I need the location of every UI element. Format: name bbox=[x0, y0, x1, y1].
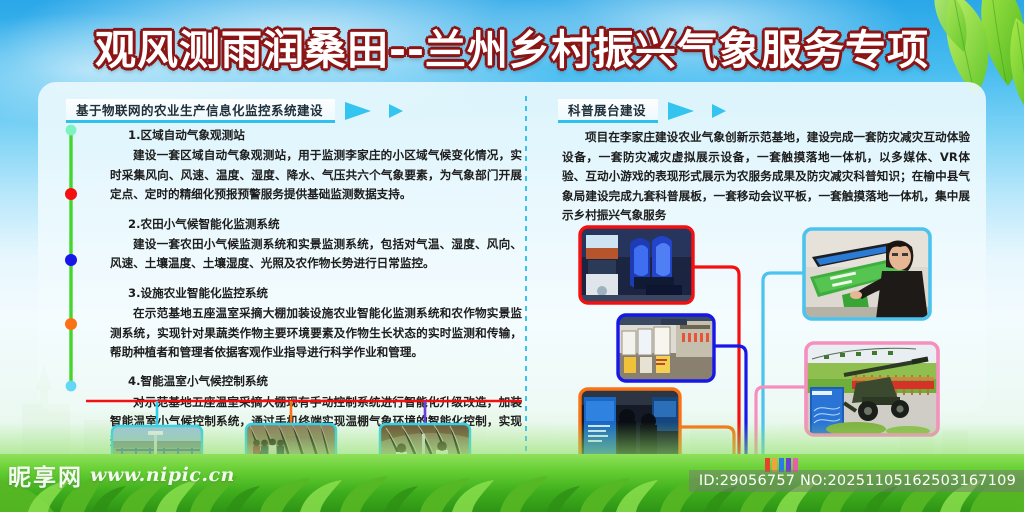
photo-exhibition-boards bbox=[618, 315, 714, 381]
left-section-header-label: 基于物联网的农业生产信息化监控系统建设 bbox=[66, 99, 335, 123]
section-body: 建设一套农田小气候监测系统和实景监测系统，包括对气温、湿度、风向、风速、土壤温度… bbox=[110, 235, 522, 274]
timeline-dot-3 bbox=[65, 254, 77, 266]
right-body-text: 项目在李家庄建设农业气象创新示范基地，建设完成一套防灾减灾互动体验设备，一套防灾… bbox=[562, 128, 970, 226]
poster-canvas: 观风测雨润桑田--兰州乡村振兴气象服务专项 基于物联网的农业生产信息化监控系统建… bbox=[0, 0, 1024, 512]
timeline-dot-1 bbox=[66, 125, 77, 136]
section-body: 在示范基地五座温室采摘大棚加装设施农业智能化监测系统和农作物实景监测系统，实现针… bbox=[110, 304, 522, 362]
timeline-dot-2 bbox=[65, 188, 77, 200]
watermark: 昵享网 www.nipic.cn bbox=[8, 458, 235, 492]
big-triangle-right-icon bbox=[668, 101, 696, 121]
photo-touch-table bbox=[804, 229, 930, 319]
photo-vr-experience bbox=[580, 227, 693, 303]
right-section-header: 科普展台建设 bbox=[558, 99, 728, 125]
section-heading: 4.智能温室小气候控制系统 bbox=[128, 372, 522, 391]
left-section-header: 基于物联网的农业生产信息化监控系统建设 bbox=[66, 99, 405, 125]
small-triangle-right-icon bbox=[389, 104, 405, 118]
poster-title-container: 观风测雨润桑田--兰州乡村振兴气象服务专项 bbox=[0, 22, 1024, 80]
timeline-rail bbox=[62, 124, 80, 392]
watermark-brand: 昵享网 bbox=[8, 458, 83, 492]
section-heading: 1.区域自动气象观测站 bbox=[128, 126, 522, 145]
big-triangle-right-icon bbox=[345, 101, 373, 121]
image-id-label: ID:29056757 NO:20251105162503167109 bbox=[689, 470, 1024, 492]
small-triangle-right-icon bbox=[712, 104, 728, 118]
section-body: 建设一套区域自动气象观测站，用于监测李家庄的小区域气候变化情况，实时采集风向、风… bbox=[110, 146, 522, 204]
right-body-paragraph: 项目在李家庄建设农业气象创新示范基地，建设完成一套防灾减灾互动体验设备，一套防灾… bbox=[562, 128, 970, 226]
section-heading: 3.设施农业智能化监控系统 bbox=[128, 284, 522, 303]
section-heading: 2.农田小气候智能化监测系统 bbox=[128, 215, 522, 234]
right-section-header-label: 科普展台建设 bbox=[558, 99, 658, 123]
page-title: 观风测雨润桑田--兰州乡村振兴气象服务专项 bbox=[95, 22, 929, 78]
timeline-dot-4 bbox=[65, 318, 77, 330]
timeline-dot-5 bbox=[66, 381, 77, 392]
watermark-url: www.nipic.cn bbox=[90, 464, 235, 486]
